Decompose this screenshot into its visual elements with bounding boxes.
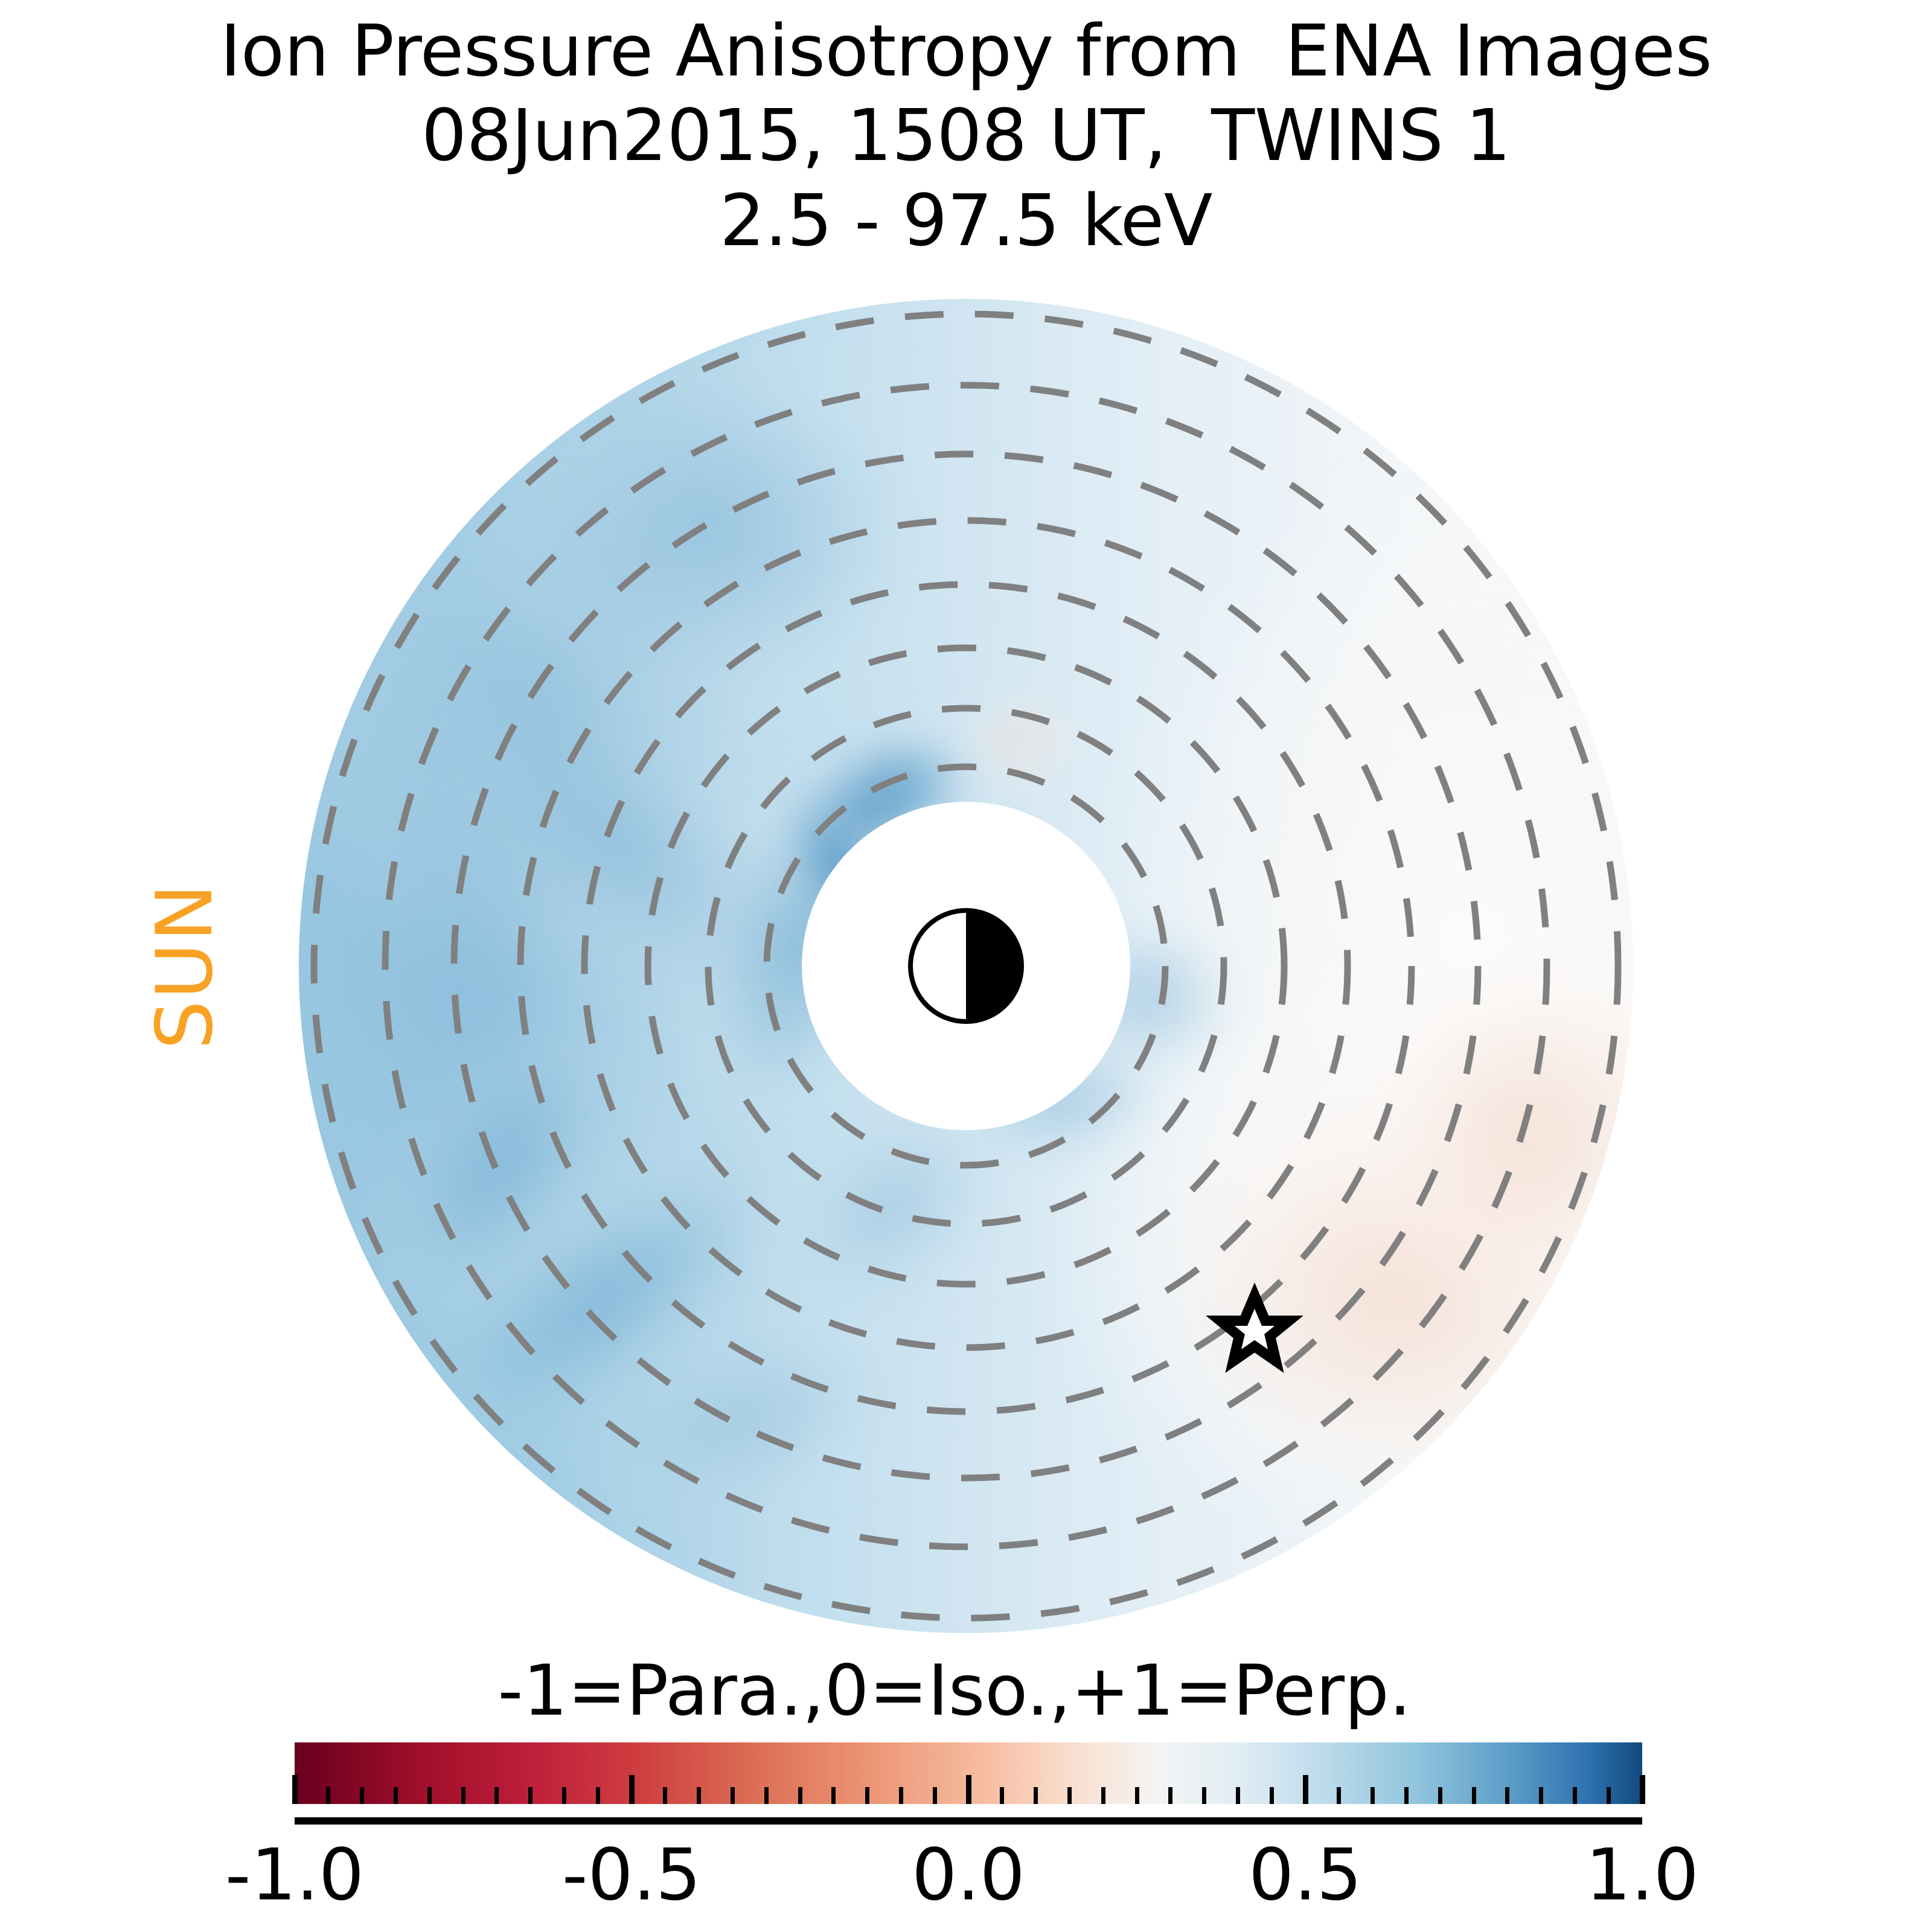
colorbar-tick-minor [1101, 1787, 1105, 1804]
colorbar-tick-minor [1135, 1787, 1139, 1804]
colorbar-label-0: -1.0 [174, 1833, 415, 1916]
colorbar-tick-minor [1236, 1787, 1240, 1804]
colorbar-ticks [295, 1804, 1642, 1822]
colorbar-label-2: 0.0 [848, 1833, 1089, 1916]
colorbar-tick-minor [933, 1787, 937, 1804]
colorbar-tick-minor [1270, 1787, 1274, 1804]
colorbar-tick-major [292, 1775, 298, 1804]
colorbar-label-4: 1.0 [1521, 1833, 1763, 1916]
colorbar-tick-minor [1539, 1787, 1543, 1804]
colorbar-label-1: -0.5 [511, 1833, 752, 1916]
colorbar-tick-minor [1438, 1787, 1442, 1804]
polar-plot-area: SUN [0, 0, 1932, 1684]
polar-heatmap-svg [0, 0, 1932, 1684]
colorbar-tick-labels: -1.0 -0.5 0.0 0.5 1.0 [295, 1833, 1642, 1918]
earth-icon [910, 910, 1022, 1022]
colorbar-tick-major [629, 1775, 635, 1804]
sun-direction-label: SUN [140, 869, 230, 1063]
colorbar-tick-minor [1573, 1787, 1577, 1804]
colorbar-tick-minor [764, 1787, 769, 1804]
colorbar-tick-minor [562, 1787, 566, 1804]
colorbar-tick-minor [1000, 1787, 1004, 1804]
colorbar[interactable] [295, 1742, 1642, 1804]
colorbar-tick-minor [596, 1787, 600, 1804]
colorbar-tick-minor [1472, 1787, 1476, 1804]
colorbar-tick-minor [427, 1787, 432, 1804]
colorbar-tick-minor [394, 1787, 398, 1804]
colorbar-title: -1=Para.,0=Iso.,+1=Perp. [0, 1654, 1932, 1728]
colorbar-tick-minor [899, 1787, 903, 1804]
colorbar-tick-minor [1371, 1787, 1375, 1804]
colorbar-tick-major [966, 1775, 971, 1804]
colorbar-tick-minor [697, 1787, 701, 1804]
colorbar-tick-minor [663, 1787, 667, 1804]
colorbar-tick-minor [731, 1787, 735, 1804]
colorbar-tick-major [1303, 1775, 1308, 1804]
colorbar-tick-major [1640, 1775, 1645, 1804]
colorbar-tick-minor [528, 1787, 533, 1804]
colorbar-tick-minor [494, 1787, 499, 1804]
colorbar-tick-minor [1202, 1787, 1206, 1804]
colorbar-tick-minor [1607, 1787, 1611, 1804]
colorbar-tick-minor [831, 1787, 836, 1804]
colorbar-tick-minor [1034, 1787, 1038, 1804]
colorbar-tick-minor [865, 1787, 869, 1804]
colorbar-tick-minor [1505, 1787, 1509, 1804]
colorbar-tick-minor [1404, 1787, 1409, 1804]
colorbar-tick-minor [326, 1787, 330, 1804]
colorbar-label-3: 0.5 [1185, 1833, 1426, 1916]
colorbar-block: -1=Para.,0=Iso.,+1=Perp. -1.0 -0.5 0.0 0… [0, 1654, 1932, 1728]
colorbar-tick-minor [1337, 1787, 1341, 1804]
colorbar-tick-minor [1168, 1787, 1172, 1804]
colorbar-tick-minor [1067, 1787, 1072, 1804]
colorbar-tick-minor [798, 1787, 802, 1804]
colorbar-tick-minor [360, 1787, 364, 1804]
colorbar-tick-minor [461, 1787, 465, 1804]
